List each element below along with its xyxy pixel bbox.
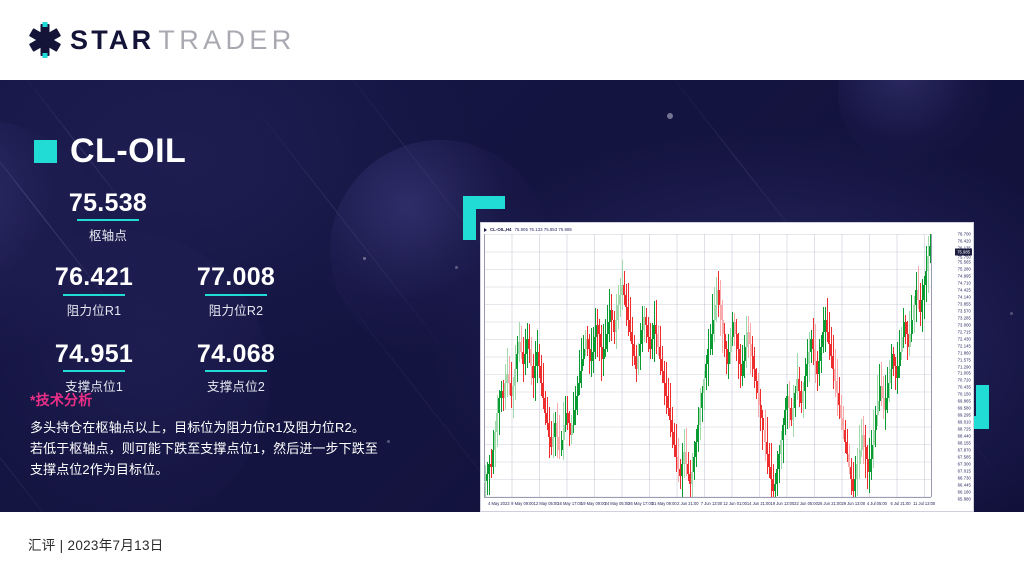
chart-collapse-icon[interactable] xyxy=(484,228,487,232)
brand-logo[interactable]: STAR TRADER xyxy=(28,23,296,57)
main-dark-panel: CL-OIL 75.538 枢轴点 76.421 阻力位R1 xyxy=(0,80,1024,512)
level-s1-value: 74.951 xyxy=(34,341,154,367)
level-r2-value: 77.008 xyxy=(176,264,296,290)
time-tick-label: 24 May 05:00 xyxy=(605,501,630,506)
brand-secondary: TRADER xyxy=(158,25,295,56)
price-tick-label: 70.720 xyxy=(958,378,971,383)
level-r1-label: 阻力位R1 xyxy=(34,300,154,319)
analysis-line-3: 支撑点位2作为目标位。 xyxy=(30,459,430,480)
chart-plot-area[interactable] xyxy=(484,234,931,497)
current-price-label: 75.985 xyxy=(955,248,972,255)
price-tick-label: 76.700 xyxy=(958,232,971,237)
page-title: CL-OIL xyxy=(70,132,186,171)
price-tick-label: 74.995 xyxy=(958,273,971,278)
time-tick-label: 4 Jul 05:00 xyxy=(867,501,887,506)
price-tick-label: 70.150 xyxy=(958,392,971,397)
price-tick-label: 75.565 xyxy=(958,259,971,264)
time-tick-label: 19 Jun 13:00 xyxy=(771,501,795,506)
chart-time-axis[interactable]: 4 May 20239 May 09:0012 May 05:0016 May … xyxy=(484,497,931,511)
level-underline xyxy=(205,370,267,372)
price-tick-label: 72.715 xyxy=(958,329,971,334)
price-tick-label: 67.300 xyxy=(958,462,971,467)
price-tick-label: 73.855 xyxy=(958,301,971,306)
level-r1: 76.421 阻力位R1 xyxy=(34,264,154,318)
level-pivot-value: 75.538 xyxy=(48,190,168,216)
instrument-panel: CL-OIL 75.538 枢轴点 76.421 阻力位R1 xyxy=(0,80,460,512)
level-underline xyxy=(63,370,125,372)
price-tick-label: 72.430 xyxy=(958,336,971,341)
page-footer: 汇评 | 2023年7月13日 xyxy=(0,512,1024,576)
price-tick-label: 70.435 xyxy=(958,385,971,390)
price-tick-label: 71.575 xyxy=(958,357,971,362)
price-tick-label: 68.155 xyxy=(958,441,971,446)
chart-header: CL-OIL,H4 75.905 76.133 75.853 75.985 xyxy=(484,225,572,234)
page-header: STAR TRADER xyxy=(0,0,1024,80)
price-tick-label: 69.010 xyxy=(958,420,971,425)
price-tick-label: 65.880 xyxy=(958,497,971,502)
technical-analysis: *技术分析 多头持仓在枢轴点以上，目标位为阻力位R1及阻力位R2。 若低于枢轴点… xyxy=(30,390,430,480)
analysis-body: 多头持仓在枢轴点以上，目标位为阻力位R1及阻力位R2。 若低于枢轴点，则可能下跌… xyxy=(30,417,430,480)
price-tick-label: 74.140 xyxy=(958,294,971,299)
time-tick-label: 31 May 09:00 xyxy=(652,501,677,506)
chart-price-axis[interactable]: 76.70076.42076.13575.75075.56575.28074.9… xyxy=(931,234,973,497)
time-tick-label: 22 Jun 05:00 xyxy=(794,501,818,506)
price-tick-label: 71.290 xyxy=(958,364,971,369)
level-s1: 74.951 支撑点位1 xyxy=(34,341,154,395)
price-tick-label: 67.870 xyxy=(958,448,971,453)
price-tick-label: 69.295 xyxy=(958,413,971,418)
analysis-line-1: 多头持仓在枢轴点以上，目标位为阻力位R1及阻力位R2。 xyxy=(30,417,430,438)
price-tick-label: 73.000 xyxy=(958,322,971,327)
time-tick-label: 16 May 17:00 xyxy=(557,501,582,506)
resistance-row: 76.421 阻力位R1 77.008 阻力位R2 xyxy=(34,264,434,318)
price-tick-label: 74.425 xyxy=(958,287,971,292)
infographic-page: STAR TRADER CL-OIL xyxy=(0,0,1024,576)
brand-wordmark: STAR TRADER xyxy=(70,25,296,56)
price-tick-label: 68.725 xyxy=(958,427,971,432)
level-underline xyxy=(77,219,139,221)
pivot-levels: 75.538 枢轴点 76.421 阻力位R1 77.008 阻力位R2 xyxy=(34,190,434,395)
level-underline xyxy=(63,294,125,296)
time-tick-label: 7 Jun 13:00 xyxy=(701,501,722,506)
support-row: 74.951 支撑点位1 74.068 支撑点位2 xyxy=(34,341,434,395)
price-tick-label: 68.440 xyxy=(958,434,971,439)
time-tick-label: 29 Jun 13:00 xyxy=(841,501,865,506)
price-tick-label: 66.445 xyxy=(958,483,971,488)
level-r1-value: 76.421 xyxy=(34,264,154,290)
level-pivot: 75.538 枢轴点 xyxy=(48,190,168,244)
instrument-title-row: CL-OIL xyxy=(34,132,186,171)
time-tick-label: 9 May 09:00 xyxy=(511,501,534,506)
chart-symbol: CL-OIL,H4 xyxy=(490,227,511,232)
price-tick-label: 74.710 xyxy=(958,280,971,285)
price-tick-label: 75.280 xyxy=(958,266,971,271)
price-tick-label: 71.005 xyxy=(958,371,971,376)
price-tick-label: 66.160 xyxy=(958,490,971,495)
level-underline xyxy=(205,294,267,296)
candlestick-series xyxy=(484,234,931,497)
brand-primary: STAR xyxy=(70,25,154,56)
level-r2: 77.008 阻力位R2 xyxy=(176,264,296,318)
chart-area: CL-OIL,H4 75.905 76.133 75.853 75.985 76… xyxy=(455,110,1000,490)
decor-dot xyxy=(1010,312,1013,315)
chart-ohlc-values: 75.905 76.133 75.853 75.985 xyxy=(514,227,571,232)
time-tick-label: 26 May 17:00 xyxy=(628,501,653,506)
level-pivot-label: 枢轴点 xyxy=(48,225,168,244)
analysis-heading: *技术分析 xyxy=(30,390,430,410)
price-tick-label: 73.570 xyxy=(958,308,971,313)
time-tick-label: 12 May 05:00 xyxy=(534,501,559,506)
price-tick-label: 66.730 xyxy=(958,476,971,481)
price-tick-label: 67.015 xyxy=(958,469,971,474)
price-tick-label: 72.145 xyxy=(958,343,971,348)
time-tick-label: 11 Jul 13:00 xyxy=(913,501,935,506)
time-tick-label: 6 Jul 21:00 xyxy=(891,501,911,506)
level-s2-value: 74.068 xyxy=(176,341,296,367)
time-tick-label: 12 Jun 01:00 xyxy=(723,501,747,506)
footer-text: 汇评 | 2023年7月13日 xyxy=(28,534,164,554)
title-bullet-square-icon xyxy=(34,140,57,163)
time-tick-label: 26 Jun 21:00 xyxy=(818,501,842,506)
price-tick-label: 69.865 xyxy=(958,399,971,404)
time-tick-label: 2 Jun 21:00 xyxy=(677,501,698,506)
time-tick-label: 14 Jun 21:00 xyxy=(747,501,771,506)
pivot-row: 75.538 枢轴点 xyxy=(34,190,434,244)
price-tick-label: 69.580 xyxy=(958,406,971,411)
price-tick-label: 71.860 xyxy=(958,350,971,355)
price-tick-label: 76.420 xyxy=(958,238,971,243)
time-tick-label: 19 May 09:00 xyxy=(581,501,606,506)
time-tick-label: 4 May 2023 xyxy=(488,501,509,506)
price-chart[interactable]: CL-OIL,H4 75.905 76.133 75.853 75.985 76… xyxy=(480,222,974,512)
level-s2: 74.068 支撑点位2 xyxy=(176,341,296,395)
price-tick-label: 67.585 xyxy=(958,455,971,460)
level-r2-label: 阻力位R2 xyxy=(176,300,296,319)
asterisk-star-icon xyxy=(28,23,62,57)
analysis-line-2: 若低于枢轴点，则可能下跌至支撑点位1，然后进一步下跌至 xyxy=(30,438,430,459)
price-tick-label: 73.285 xyxy=(958,315,971,320)
